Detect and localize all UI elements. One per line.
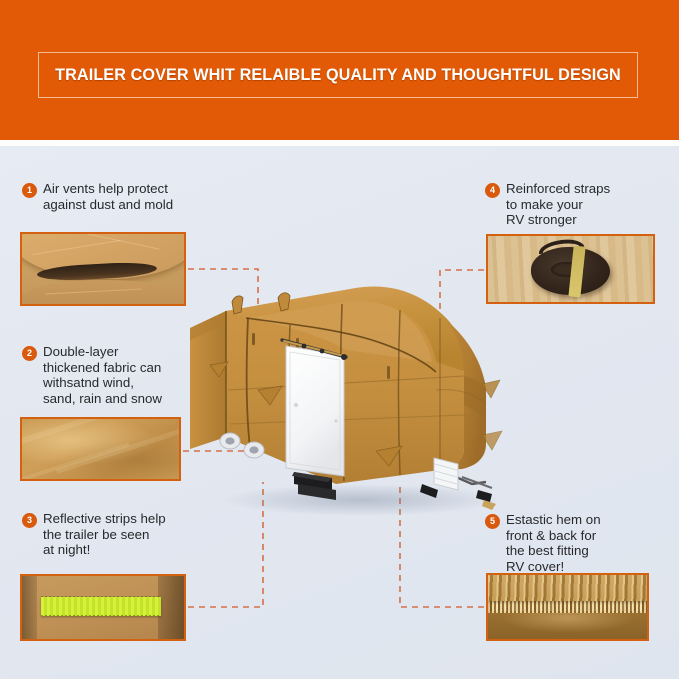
callout-1-label: Air vents help protect against dust and … [43, 181, 173, 212]
callout-3-badge: 3 [22, 513, 37, 528]
elastic-hem-photo [486, 573, 649, 641]
callout-4: 4 Reinforced straps to make your RV stro… [485, 181, 665, 228]
fabric-photo [20, 417, 181, 481]
callout-2-label: Double-layer thickened fabric can withsa… [43, 344, 162, 406]
callout-1-badge: 1 [22, 183, 37, 198]
callout-1: 1 Air vents help protect against dust an… [22, 181, 222, 212]
callout-2-badge: 2 [22, 346, 37, 361]
reflective-strip-photo [20, 574, 186, 641]
callout-4-badge: 4 [485, 183, 500, 198]
callout-4-label: Reinforced straps to make your RV strong… [506, 181, 610, 228]
trailer-cover-illustration [186, 272, 516, 522]
callout-2: 2 Double-layer thickened fabric can with… [22, 344, 212, 406]
callout-5-label: Estastic hem on front & back for the bes… [506, 512, 601, 574]
air-vent-photo [20, 232, 186, 306]
callout-3-label: Reflective strips help the trailer be se… [43, 511, 166, 558]
